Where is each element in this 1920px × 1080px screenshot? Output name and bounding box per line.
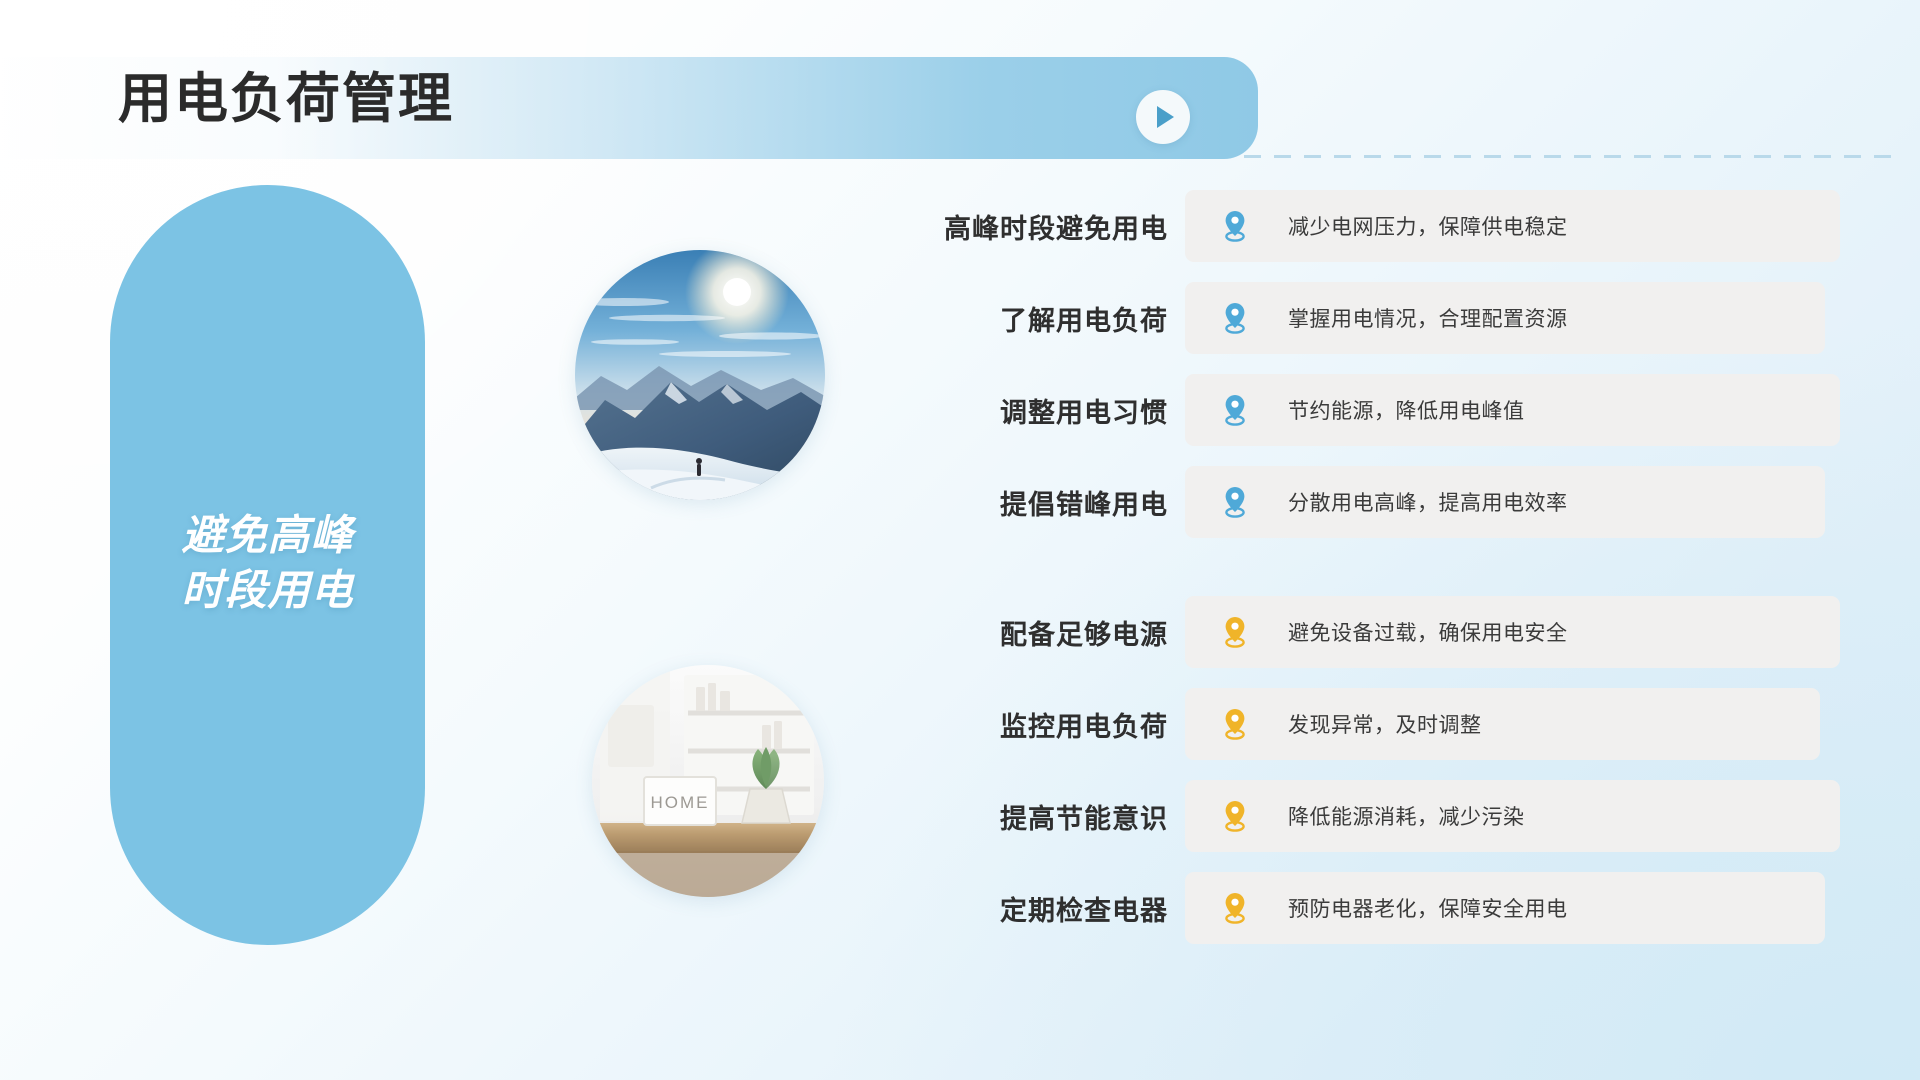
list-item-title: 配备足够电源 — [880, 613, 1190, 652]
slide-canvas: 用电负荷管理 避免高峰 时段用电 — [0, 0, 1920, 1080]
list-item-desc: 分散用电高峰，提高用电效率 — [1288, 487, 1568, 517]
list-item[interactable]: 高峰时段避免用电 减少电网压力，保障供电稳定 — [880, 190, 1840, 262]
location-pin-icon — [1220, 485, 1250, 519]
list-item-desc: 节约能源，降低用电峰值 — [1288, 395, 1525, 425]
list-item-title: 高峰时段避免用电 — [880, 207, 1190, 246]
location-pin-icon — [1220, 707, 1250, 741]
list-item-title: 监控用电负荷 — [880, 705, 1190, 744]
list-item-title: 调整用电习惯 — [880, 391, 1190, 430]
left-pill-label: 避免高峰 时段用电 — [110, 507, 425, 618]
list-item-title: 了解用电负荷 — [880, 299, 1190, 338]
benefit-list: 高峰时段避免用电 减少电网压力，保障供电稳定 了解用电负荷 掌握用电情况， — [880, 190, 1840, 964]
play-icon — [1157, 106, 1174, 128]
list-item-desc: 避免设备过载，确保用电安全 — [1288, 617, 1568, 647]
list-item-title: 定期检查电器 — [880, 889, 1190, 928]
list-item-title: 提倡错峰用电 — [880, 483, 1190, 522]
list-item-desc: 降低能源消耗，减少污染 — [1288, 801, 1525, 831]
left-highlight-pill: 避免高峰 时段用电 — [110, 185, 425, 945]
list-item[interactable]: 提高节能意识 降低能源消耗，减少污染 — [880, 780, 1840, 852]
list-item-desc: 减少电网压力，保障供电稳定 — [1288, 211, 1568, 241]
list-item[interactable]: 了解用电负荷 掌握用电情况，合理配置资源 — [880, 282, 1840, 354]
list-item-desc: 预防电器老化，保障安全用电 — [1288, 893, 1568, 923]
list-item[interactable]: 定期检查电器 预防电器老化，保障安全用电 — [880, 872, 1840, 944]
page-title: 用电负荷管理 — [118, 72, 454, 126]
snow-mountain-photo — [575, 250, 825, 500]
list-item[interactable]: 配备足够电源 避免设备过载，确保用电安全 — [880, 596, 1840, 668]
location-pin-icon — [1220, 615, 1250, 649]
location-pin-icon — [1220, 209, 1250, 243]
location-pin-icon — [1220, 891, 1250, 925]
home-interior-photo: HOME — [592, 665, 824, 897]
location-pin-icon — [1220, 799, 1250, 833]
list-item-desc: 掌握用电情况，合理配置资源 — [1288, 303, 1568, 333]
list-item[interactable]: 调整用电习惯 节约能源，降低用电峰值 — [880, 374, 1840, 446]
location-pin-icon — [1220, 393, 1250, 427]
list-item[interactable]: 监控用电负荷 发现异常，及时调整 — [880, 688, 1840, 760]
list-item-title: 提高节能意识 — [880, 797, 1190, 836]
location-pin-icon — [1220, 301, 1250, 335]
header-dashed-divider — [1244, 155, 1900, 158]
list-item-desc: 发现异常，及时调整 — [1288, 709, 1482, 739]
play-button[interactable] — [1136, 90, 1190, 144]
list-item[interactable]: 提倡错峰用电 分散用电高峰，提高用电效率 — [880, 466, 1840, 538]
